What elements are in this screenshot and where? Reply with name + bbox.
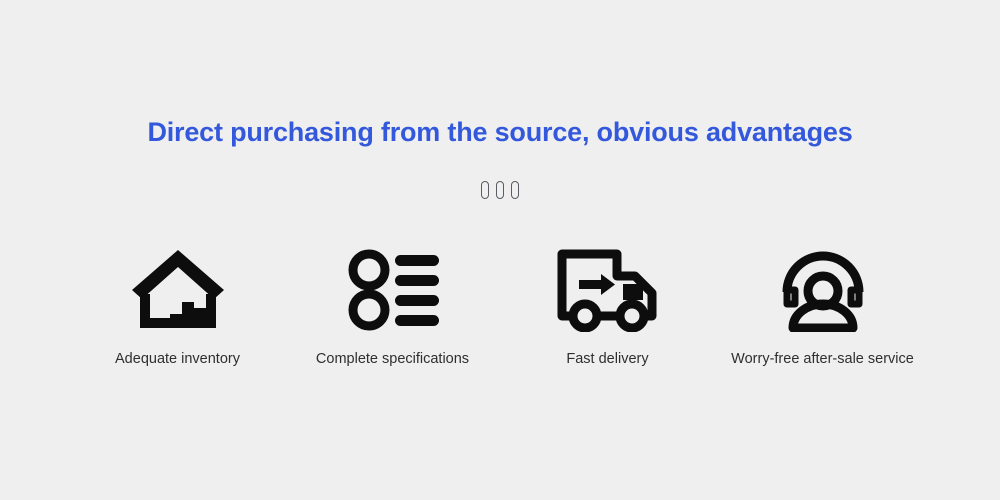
page-title: Direct purchasing from the source, obvio… <box>0 112 1000 152</box>
feature-label: Complete specifications <box>316 350 469 368</box>
promo-banner: Direct purchasing from the source, obvio… <box>0 0 1000 500</box>
feature-item-fast-delivery: Fast delivery <box>500 246 715 368</box>
feature-item-adequate-inventory: Adequate inventory <box>70 246 285 368</box>
customer-service-headset-icon <box>773 246 873 332</box>
feature-item-complete-specifications: Complete specifications <box>285 246 500 368</box>
specification-list-icon <box>343 246 443 332</box>
feature-label: Fast delivery <box>566 350 648 368</box>
feature-list: Adequate inventory Complete specific <box>0 246 1000 368</box>
divider-pill-2 <box>496 181 504 199</box>
divider-pill-3 <box>511 181 519 199</box>
divider-pill-1 <box>481 181 489 199</box>
delivery-truck-icon <box>555 246 661 332</box>
feature-label: Worry-free after-sale service <box>731 350 914 368</box>
feature-label: Adequate inventory <box>115 350 240 368</box>
feature-item-after-sale-service: Worry-free after-sale service <box>715 246 930 368</box>
warehouse-inventory-icon <box>128 246 228 332</box>
three-pill-divider <box>0 181 1000 199</box>
